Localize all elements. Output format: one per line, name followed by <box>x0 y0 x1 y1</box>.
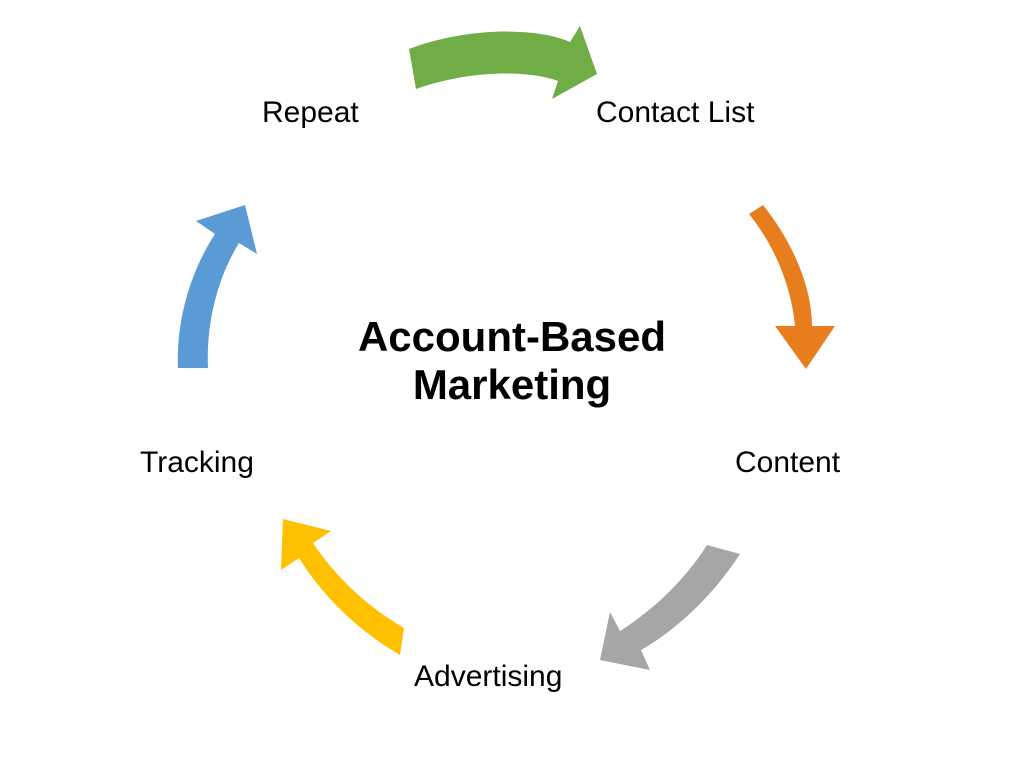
gray-arrow[interactable] <box>600 545 740 670</box>
green-arrow[interactable] <box>409 26 597 99</box>
center-title: Account-Based Marketing <box>312 313 712 409</box>
stage-label-tracking: Tracking <box>140 448 254 478</box>
stage-label-repeat: Repeat <box>262 98 359 128</box>
yellow-arrow[interactable] <box>281 519 404 655</box>
diagram-canvas: Repeat Contact List Content Advertising … <box>0 0 1024 760</box>
stage-label-advertising: Advertising <box>414 662 562 692</box>
stage-label-content: Content <box>735 448 840 478</box>
stage-label-contact-list: Contact List <box>596 98 754 128</box>
blue-arrow[interactable] <box>178 205 257 368</box>
orange-arrow[interactable] <box>749 205 835 369</box>
